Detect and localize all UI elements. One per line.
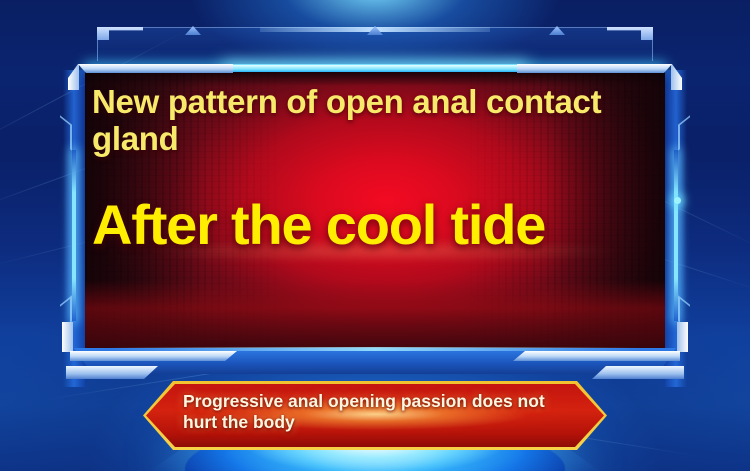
bottom-ribbon-banner: Progressive anal opening passion does no… bbox=[143, 381, 607, 450]
corner-bracket-bottom-right bbox=[513, 331, 688, 361]
cyan-rail-core bbox=[225, 65, 525, 72]
base-plate-left bbox=[66, 366, 158, 379]
poster-title: After the cool tide bbox=[92, 196, 658, 253]
bottom-ribbon-text: Progressive anal opening passion does no… bbox=[183, 391, 573, 434]
headline-group: New pattern of open anal contact gland A… bbox=[92, 84, 658, 253]
poster-stage: New pattern of open anal contact gland A… bbox=[0, 0, 750, 471]
base-plate-right bbox=[592, 366, 684, 379]
status-dot-icon bbox=[674, 197, 681, 204]
pillar-light-left bbox=[72, 150, 76, 321]
corner-bracket-bottom-left bbox=[62, 331, 237, 361]
poster-subtitle: New pattern of open anal contact gland bbox=[92, 84, 658, 158]
